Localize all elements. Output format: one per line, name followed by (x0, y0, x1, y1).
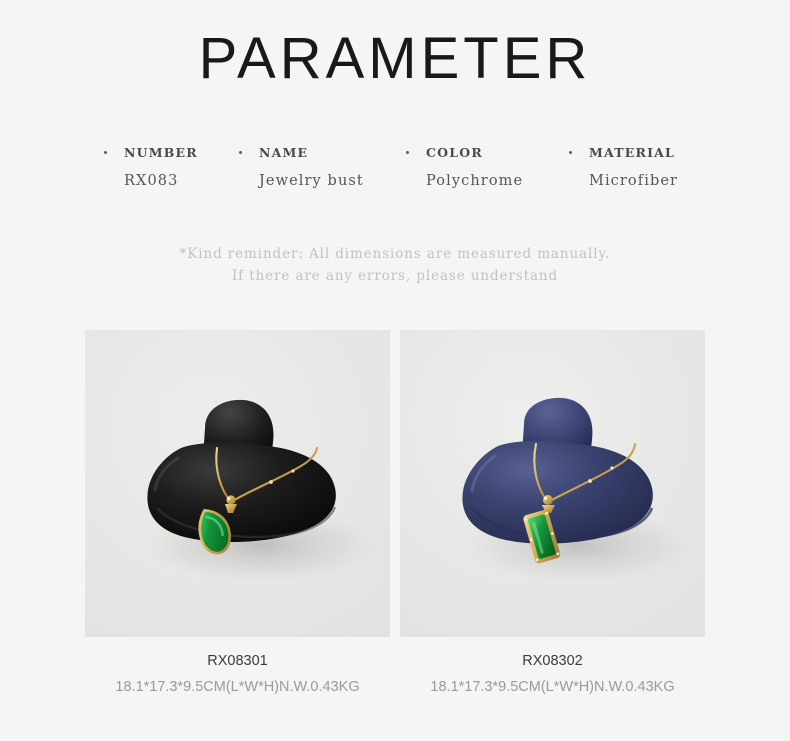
parameter-label: NUMBER (124, 145, 198, 160)
parameter-item-number: NUMBER RX083 (104, 142, 239, 189)
product-dimensions: 18.1*17.3*9.5CM(L*W*H)N.W.0.43KG (400, 677, 705, 697)
parameter-label: COLOR (426, 145, 483, 160)
product-dimensions: 18.1*17.3*9.5CM(L*W*H)N.W.0.43KG (85, 677, 390, 697)
product-card-rx08301[interactable]: RX08301 18.1*17.3*9.5CM(L*W*H)N.W.0.43KG (85, 330, 390, 697)
product-gallery: RX08301 18.1*17.3*9.5CM(L*W*H)N.W.0.43KG (85, 330, 705, 697)
bullet-icon (406, 151, 409, 154)
product-caption: RX08302 18.1*17.3*9.5CM(L*W*H)N.W.0.43KG (400, 651, 705, 697)
product-card-rx08302[interactable]: RX08302 18.1*17.3*9.5CM(L*W*H)N.W.0.43KG (400, 330, 705, 697)
parameter-label: MATERIAL (589, 145, 675, 160)
parameter-label-line: COLOR (406, 142, 569, 162)
parameter-item-name: NAME Jewelry bust (239, 142, 406, 189)
product-sku: RX08302 (400, 651, 705, 671)
parameter-value: Polychrome (426, 173, 569, 189)
parameter-list: NUMBER RX083 NAME Jewelry bust COLOR Pol… (104, 142, 704, 189)
parameter-value: Jewelry bust (259, 173, 406, 189)
product-photo-blue-bust[interactable] (400, 330, 705, 637)
product-photo-black-bust[interactable] (85, 330, 390, 637)
product-parameter-page: PARAMETER NUMBER RX083 NAME Jewelry bust… (0, 0, 790, 741)
page-title: PARAMETER (0, 26, 790, 93)
product-sku: RX08301 (85, 651, 390, 671)
kind-reminder-note: *Kind reminder: All dimensions are measu… (0, 243, 790, 287)
product-caption: RX08301 18.1*17.3*9.5CM(L*W*H)N.W.0.43KG (85, 651, 390, 697)
parameter-label-line: NUMBER (104, 142, 239, 162)
reminder-line-2: If there are any errors, please understa… (0, 265, 790, 287)
parameter-item-color: COLOR Polychrome (406, 142, 569, 189)
parameter-item-material: MATERIAL Microfiber (569, 142, 704, 189)
parameter-label-line: MATERIAL (569, 142, 704, 162)
parameter-value: Microfiber (589, 173, 704, 189)
parameter-label: NAME (259, 145, 308, 160)
bullet-icon (569, 151, 572, 154)
parameter-label-line: NAME (239, 142, 406, 162)
parameter-value: RX083 (124, 173, 239, 189)
bullet-icon (239, 151, 242, 154)
bullet-icon (104, 151, 107, 154)
reminder-line-1: *Kind reminder: All dimensions are measu… (0, 243, 790, 265)
